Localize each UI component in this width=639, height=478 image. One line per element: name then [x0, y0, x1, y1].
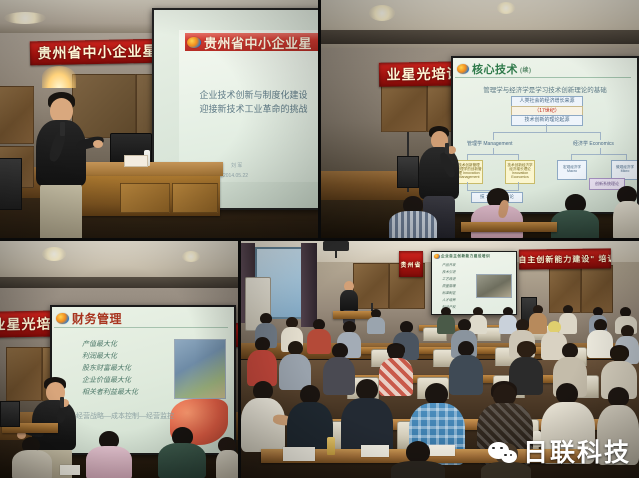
head: [562, 343, 578, 358]
list-item: 产品开发: [442, 262, 456, 267]
audience-member: [551, 194, 599, 238]
name-plaque: [124, 155, 148, 167]
training-program-logo-icon: [56, 313, 69, 324]
photo-collage: 贵州省中小企业星 贵州省中小企业星 企业技术创新与制度化建设 迎接新技术工业革命…: [0, 0, 639, 478]
diagram-connector: [571, 154, 627, 155]
slide-title-line-1: 企业技术创新与制度化建设: [179, 88, 318, 101]
training-program-logo-icon: [187, 37, 201, 48]
training-program-logo-icon: [434, 254, 440, 259]
trousers: [40, 182, 82, 238]
microphone: [445, 143, 449, 154]
list-item: 人才培养: [442, 297, 456, 302]
banner-right: "自主创新能力建设" 培训: [519, 248, 611, 269]
projector-mount: [335, 250, 337, 258]
watermark-text: 日联科技: [523, 441, 631, 466]
desk: [461, 222, 557, 232]
torso: [551, 210, 599, 238]
wall-sconce: [42, 66, 76, 88]
ceiling-light-icon: [4, 12, 46, 24]
audience-member: [241, 381, 285, 451]
ceiling-light-icon: [369, 5, 395, 21]
torso: [389, 211, 437, 238]
head: [458, 341, 474, 356]
bubble-eye: [492, 447, 495, 450]
wechat-logo-icon: [488, 442, 518, 466]
head: [332, 343, 348, 358]
list-item: 利润最大化: [82, 351, 138, 361]
audience-member: [367, 309, 385, 333]
torso: [367, 317, 385, 334]
diagram-branch-left: 管理学 Management: [467, 140, 513, 147]
wall-panel: [581, 265, 613, 313]
diagram-connector: [467, 154, 519, 155]
ceiling-trim: [321, 30, 639, 44]
audience-member: [86, 431, 132, 478]
slide-header: 贵州省中小企业星: [185, 33, 318, 51]
head: [425, 383, 448, 405]
ceiling-light-icon: [182, 251, 200, 262]
torso: [391, 461, 445, 478]
podium-panel: [120, 183, 170, 213]
audience-member: [389, 196, 437, 238]
hand-right: [93, 140, 103, 148]
slide-bullet-list: 产品开发 技术引进 工艺改进 质量管理 标准制定 人才培养 知识产权: [442, 262, 456, 311]
head: [608, 387, 629, 407]
list-item: 质量管理: [442, 283, 456, 288]
loudspeaker: [0, 401, 20, 427]
slide-presenter: 刘 军: [231, 162, 242, 169]
slide-header: 财务管理: [54, 311, 134, 326]
slide-header-rule: [54, 327, 228, 328]
slide-title-line-2: 迎接新技术工业革命的挑战: [179, 102, 318, 115]
podium-panel: [172, 183, 218, 213]
torso: [158, 443, 206, 478]
diagram-connector: [493, 132, 494, 140]
slide-header-rule: [455, 77, 631, 78]
ceiling-trim: [0, 277, 238, 289]
notebook: [283, 447, 315, 461]
curtain: [301, 243, 317, 327]
head: [255, 337, 270, 351]
list-item: 股东财富最大化: [82, 363, 138, 373]
audience-member: [12, 437, 52, 478]
torso: [86, 446, 132, 478]
diagram-box-4: 微观经济学 Micro: [611, 160, 637, 180]
ceiling-light-icon: [42, 247, 66, 261]
torso: [12, 450, 52, 478]
list-item: 工艺改进: [442, 276, 456, 281]
slide-footer: 经营战略—成本控制—经营监控: [76, 411, 174, 421]
projection-screen: 企业自主创新能力建设培训 产品开发 技术引进 工艺改进 质量管理 标准制定 人才…: [431, 251, 517, 315]
podium-top: [78, 162, 223, 176]
audience-member: [158, 427, 206, 478]
list-item: 企业价值最大化: [82, 375, 138, 385]
microphone: [60, 122, 65, 136]
head: [556, 383, 578, 404]
wechat-watermark: 日联科技: [488, 441, 631, 466]
head: [406, 441, 430, 463]
torso: [241, 398, 285, 452]
list-item: 相关者利益最大化: [82, 387, 138, 397]
bubble-eye: [500, 447, 503, 450]
audience-member: [247, 337, 277, 385]
belt: [39, 178, 83, 185]
diagram-connector: [600, 132, 601, 140]
panel-top-left: 贵州省中小企业星 贵州省中小企业星 企业技术创新与制度化建设 迎接新技术工业革命…: [0, 0, 318, 238]
presenter: [30, 92, 92, 238]
torso: [613, 201, 639, 238]
diagram-box-3: 宏观经济学 Macro: [557, 160, 587, 180]
slide-header: 核心技术 (续): [455, 62, 547, 76]
bubble-eye: [504, 454, 506, 456]
panel-bottom-left: 业星光培训 财务管理 产值最大化 利润最大化 股东财富最大化 企业价值最大化 相…: [0, 241, 238, 478]
diagram-connector: [493, 132, 601, 133]
slide-bullet-list: 产值最大化 利润最大化 股东财富最大化 企业价值最大化 相关者利益最大化: [82, 339, 138, 399]
audience-member: [216, 437, 238, 478]
diagram-connector: [546, 124, 547, 132]
list-item: 标准制定: [442, 290, 456, 295]
diagram-branch-right: 经济学 Economics: [573, 140, 614, 147]
head: [518, 343, 534, 358]
wall-banner: 贵州省中小企业星: [30, 39, 165, 66]
slide-canvas: 贵州省中小企业星 企业技术创新与制度化建设 迎接新技术工业革命的挑战 刘 军 2…: [179, 30, 318, 182]
list-item: 产值最大化: [82, 339, 138, 349]
diagram-box-top-3: 技术创新的理论起源: [511, 115, 583, 126]
diagram-box-2: 技术创新经济学 经济增长理论 Innovation Economics: [505, 160, 535, 184]
microphone: [60, 397, 64, 408]
training-program-logo-icon: [457, 64, 469, 74]
head: [288, 341, 303, 355]
list-item: 技术引进: [442, 269, 456, 274]
audience-member: [391, 441, 445, 478]
chat-bubble-small: [501, 450, 517, 463]
slide-header: 企业自主创新能力建设培训: [433, 253, 495, 259]
loudspeaker: [397, 156, 419, 188]
screen-surface: 企业自主创新能力建设培训 产品开发 技术引进 工艺改进 质量管理 标准制定 人才…: [432, 252, 516, 314]
bubble-eye: [510, 454, 512, 456]
head: [611, 347, 628, 362]
slide-subtitle: 管理学与经济学是学习技术创新理论的基础: [453, 84, 637, 94]
wall-panel: [0, 86, 34, 144]
head: [356, 379, 378, 400]
world-map-thumbnail: [174, 339, 226, 399]
panel-top-right: 业星光培训 核心技术 (续) 管理学与经济学是学习技术创新理论的基础 人类社会的…: [321, 0, 639, 238]
diagram-connector: [467, 182, 468, 190]
drink-cup: [327, 437, 335, 455]
slide-date: 2014.05.22: [223, 173, 248, 179]
audience-member: [613, 186, 639, 238]
photo-thumbnail: [476, 274, 512, 298]
notebook: [361, 445, 389, 457]
torso: [216, 450, 238, 478]
banner-left: 贵州省: [399, 251, 423, 277]
speaker-cabinet: [0, 158, 22, 210]
ceiling-light-icon: [497, 2, 515, 14]
notebook: [60, 465, 80, 475]
torso: [340, 290, 358, 312]
